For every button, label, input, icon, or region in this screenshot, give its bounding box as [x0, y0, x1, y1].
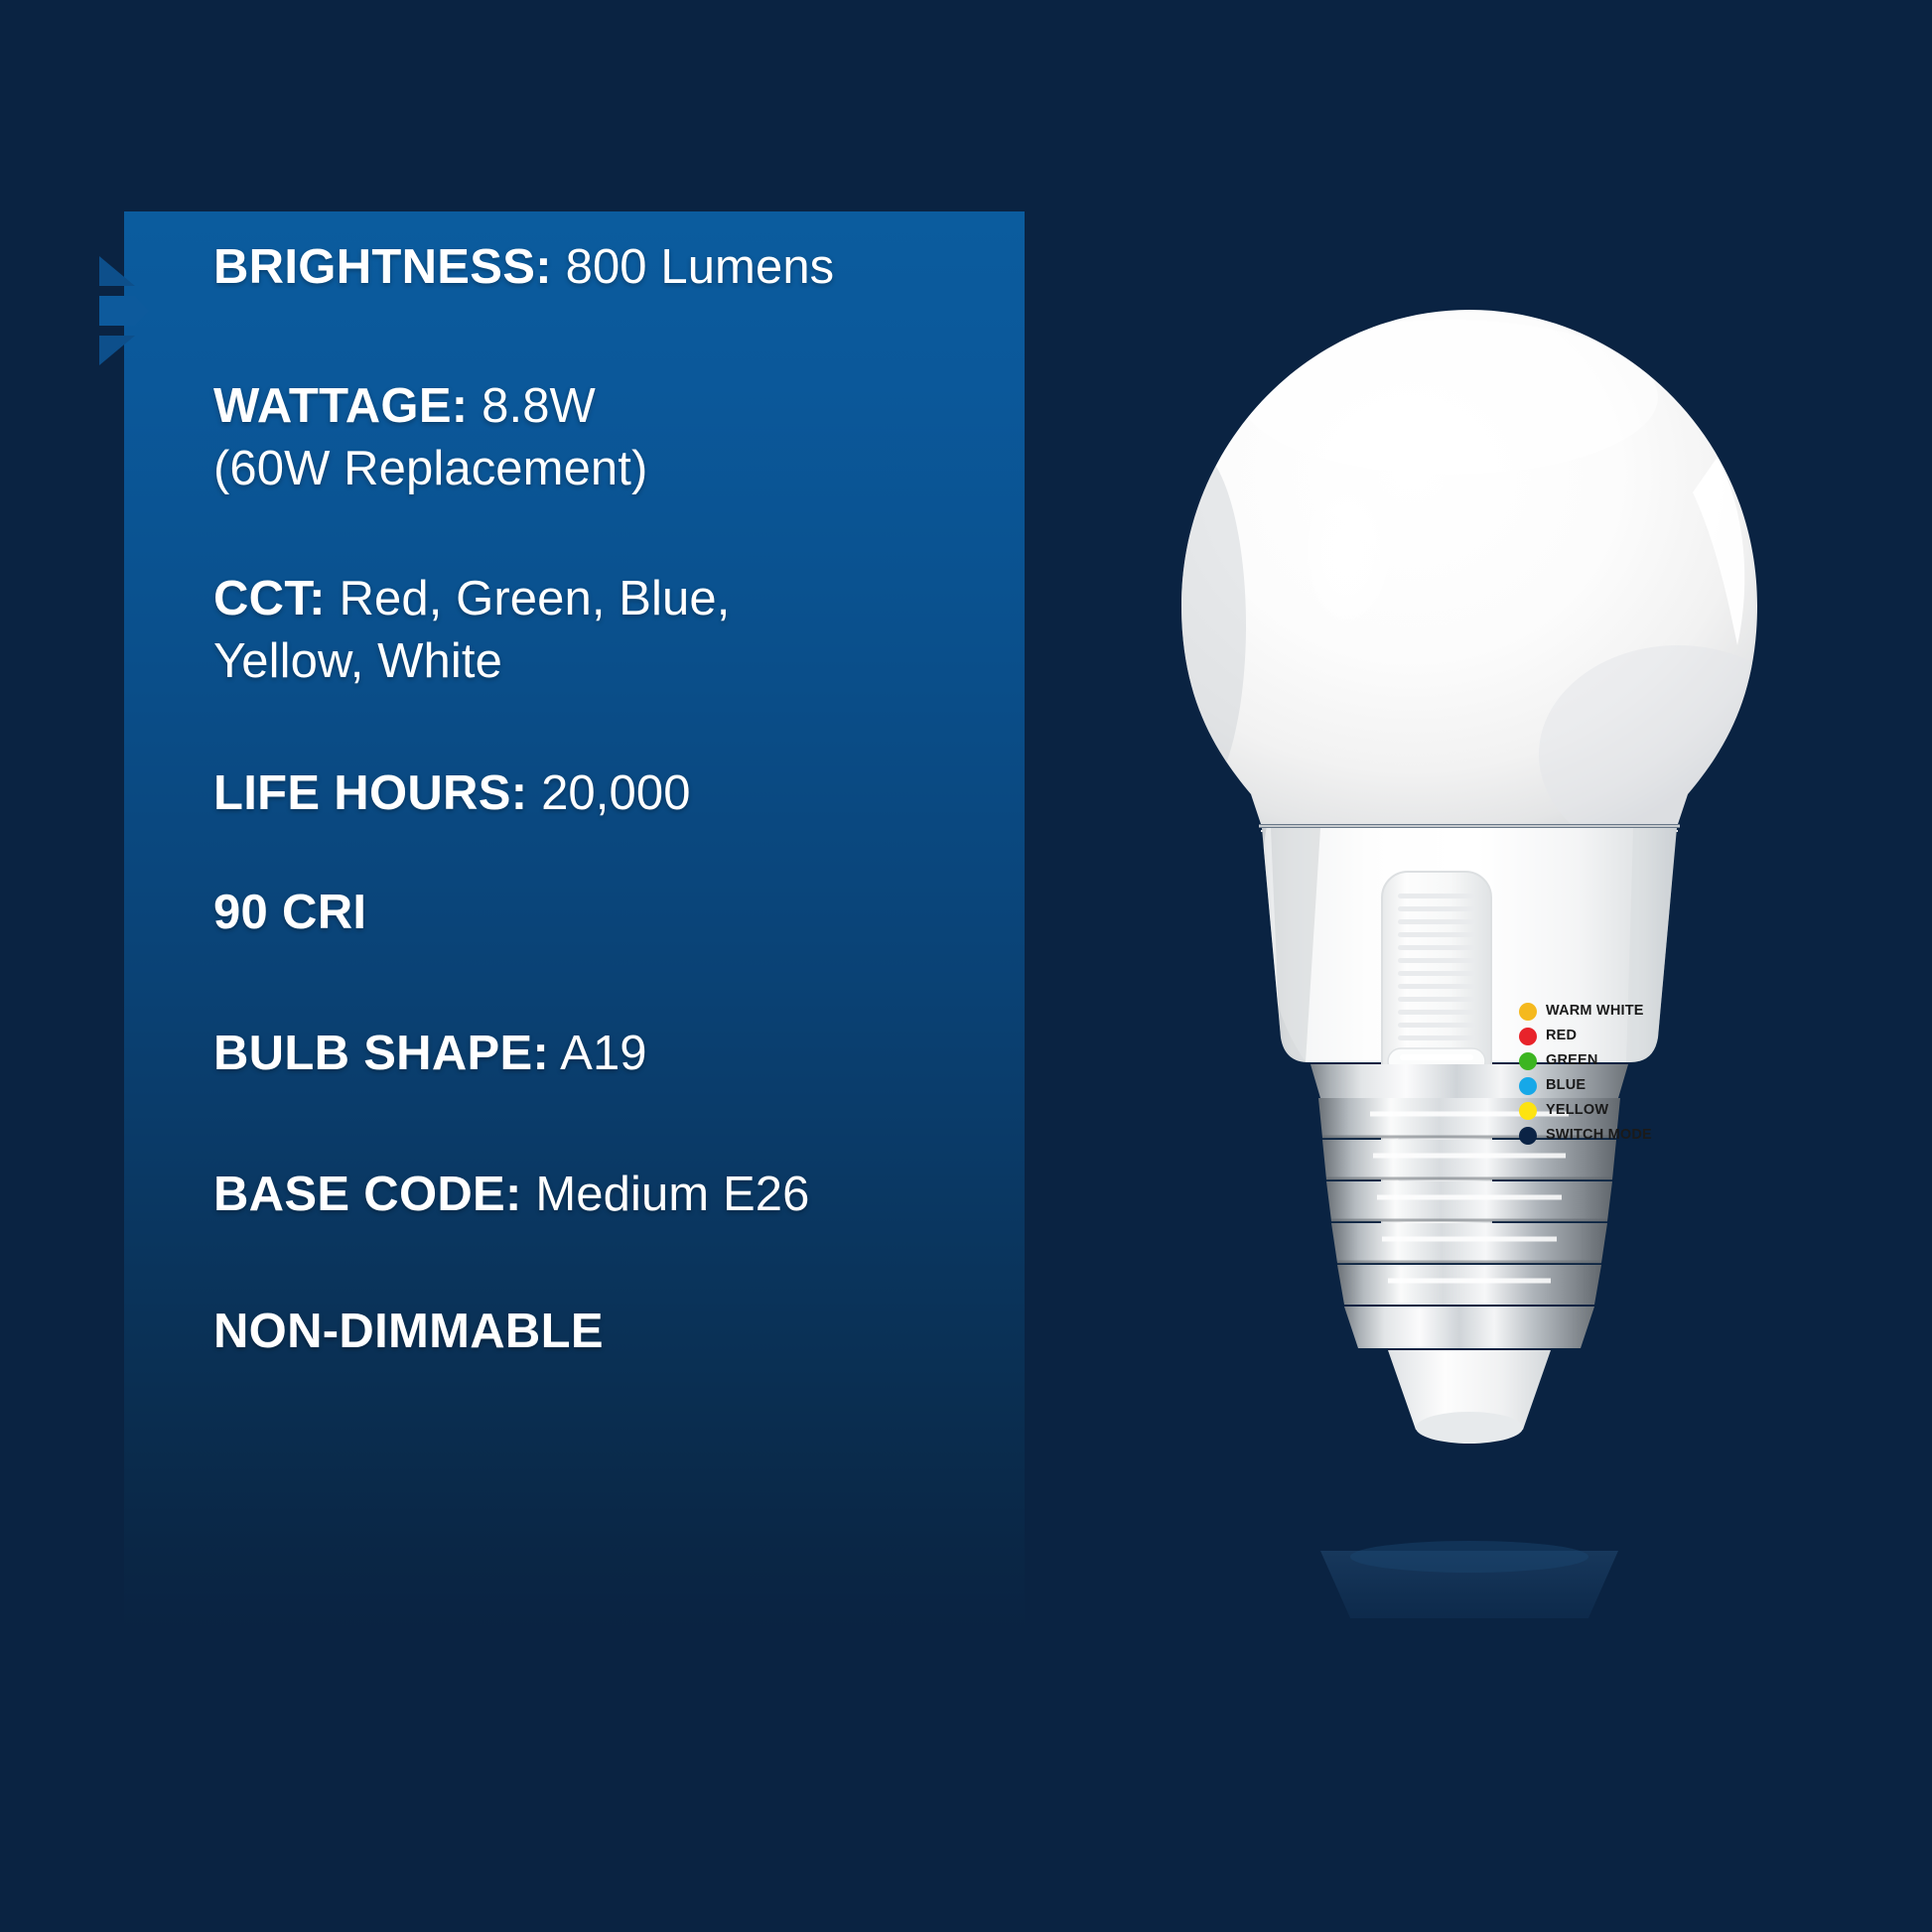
spec-panel: BRIGHTNESS: 800 LumensWATTAGE: 8.8W (60W… [124, 211, 1025, 1631]
spec-row: WATTAGE: 8.8W (60W Replacement) [213, 375, 647, 499]
spec-label: BRIGHTNESS: [213, 240, 552, 294]
legend-item: WARM WHITE [1519, 999, 1732, 1024]
legend-item: YELLOW [1519, 1098, 1732, 1123]
spec-label: BASE CODE: [213, 1168, 522, 1221]
legend-label: YELLOW [1546, 1103, 1608, 1118]
legend-color-dot-icon [1519, 1052, 1537, 1070]
legend-item: RED [1519, 1024, 1732, 1048]
legend-item: SWITCH MODE [1519, 1123, 1732, 1148]
spec-label: LIFE HOURS: [213, 766, 527, 820]
led-bulb-image: WARM WHITEREDGREENBLUEYELLOWSWITCH MODE [1122, 298, 1817, 1618]
spec-value: Medium E26 [522, 1168, 810, 1221]
legend-color-dot-icon [1519, 1077, 1537, 1095]
spec-row: NON-DIMMABLE [213, 1301, 604, 1363]
spec-label: WATTAGE: [213, 379, 468, 433]
legend-label: RED [1546, 1029, 1577, 1043]
legend-color-dot-icon [1519, 1102, 1537, 1120]
spec-row: LIFE HOURS: 20,000 [213, 762, 691, 825]
spec-label: CCT: [213, 572, 326, 625]
spec-value: A19 [549, 1027, 647, 1080]
legend-label: BLUE [1546, 1078, 1586, 1093]
spec-row: 90 CRI [213, 882, 366, 944]
spec-row: BRIGHTNESS: 800 Lumens [213, 236, 834, 299]
legend-color-dot-icon [1519, 1127, 1537, 1145]
spec-value: 800 Lumens [552, 240, 834, 294]
spec-label: BULB SHAPE: [213, 1027, 549, 1080]
spec-row: CCT: Red, Green, Blue, Yellow, White [213, 568, 730, 692]
legend-item: BLUE [1519, 1073, 1732, 1098]
bulb-globe [1137, 310, 1817, 864]
legend-label: WARM WHITE [1546, 1004, 1644, 1019]
legend-label: SWITCH MODE [1546, 1128, 1652, 1143]
spec-row: BASE CODE: Medium E26 [213, 1164, 809, 1226]
spec-label: NON-DIMMABLE [213, 1305, 604, 1358]
legend-label: GREEN [1546, 1053, 1598, 1068]
legend-item: GREEN [1519, 1048, 1732, 1073]
bulb-color-mode-legend: WARM WHITEREDGREENBLUEYELLOWSWITCH MODE [1519, 999, 1732, 1148]
spec-row: BULB SHAPE: A19 [213, 1023, 647, 1085]
bulb-reflection [1320, 1541, 1618, 1618]
double-chevron-arrow-icon [87, 256, 167, 365]
legend-color-dot-icon [1519, 1003, 1537, 1021]
spec-value: 20,000 [527, 766, 690, 820]
legend-color-dot-icon [1519, 1028, 1537, 1045]
spec-label: 90 CRI [213, 886, 366, 939]
